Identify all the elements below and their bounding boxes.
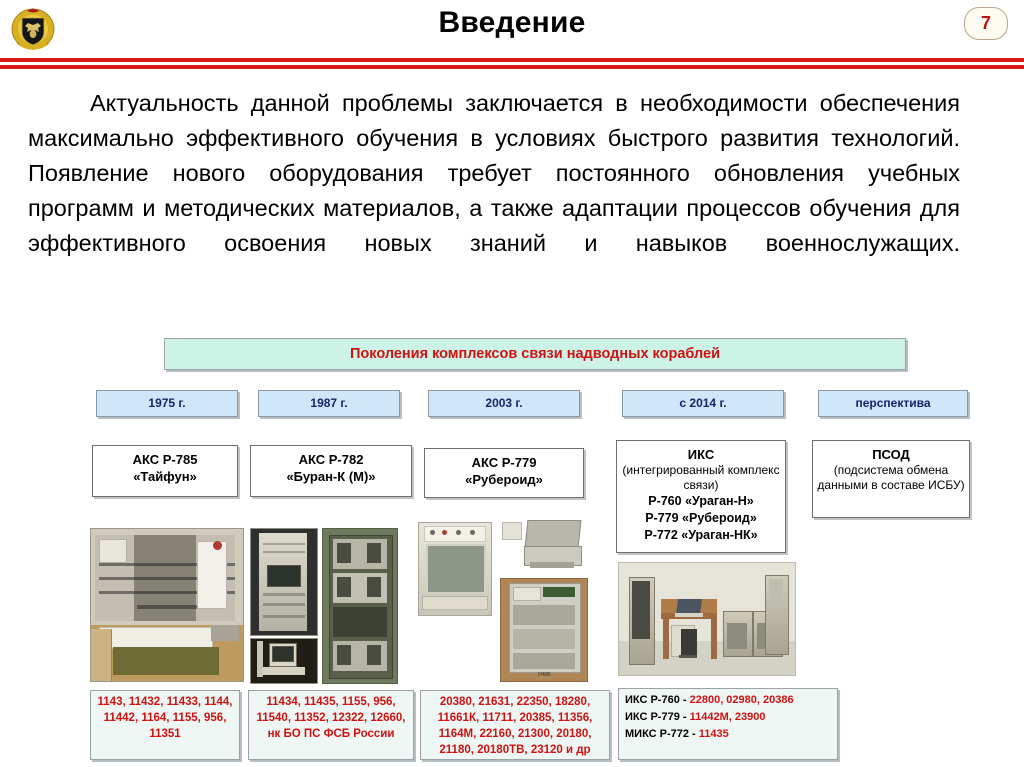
numbers-row-r779-label: ИКС Р-779 - [625,711,690,723]
year-box-2003[interactable]: 2003 г. [428,390,580,417]
year-box-1987[interactable]: 1987 г. [258,390,400,417]
numbers-row-r772: МИКС Р-772 - 11435 [625,726,835,743]
numbers-row-r772-value: 11435 [699,728,729,740]
numbers-row-r772-label: МИКС Р-772 - [625,728,699,740]
photo-r779-rugged-laptop [500,518,586,574]
system-box-iks[interactable]: ИКС (интегрированный комплекс связи) Р-7… [616,440,786,553]
system-box-iks-sub: (интегрированный комплекс связи) [619,463,783,493]
system-box-iks-item-2: Р-779 «Рубероид» [619,510,783,527]
numbers-row-r779-value: 11442М, 23900 [690,711,766,723]
year-box-1975[interactable]: 1975 г. [96,390,238,417]
system-box-r782[interactable]: АКС Р-782 «Буран-К (М)» [250,445,412,497]
system-box-r782-main: АКС Р-782 [253,451,409,468]
generations-diagram: Поколения комплексов связи надводных кор… [0,330,1024,767]
numbers-row-r779: ИКС Р-779 - 11442М, 23900 [625,709,835,726]
numbers-row-r760-label: ИКС Р-760 - [625,694,690,706]
numbers-box-r779[interactable]: 20380, 21631, 22350, 18280, 11661К, 1171… [420,690,610,760]
photo-r779-console [412,518,496,626]
page-title: Введение [0,6,1024,40]
numbers-box-r782[interactable]: 11434, 11435, 1155, 956, 11540, 11352, 1… [248,690,414,760]
system-box-psod-sub: (подсистема обмена данными в составе ИСБ… [815,463,967,493]
system-box-r785-sub: «Тайфун» [95,468,235,485]
diagram-banner-title: Поколения комплексов связи надводных кор… [164,338,906,370]
system-box-r785[interactable]: АКС Р-785 «Тайфун» [92,445,238,497]
numbers-row-r760: ИКС Р-760 - 22800, 02980, 20386 [625,692,835,709]
system-box-r779-sub: «Рубероид» [427,471,581,488]
header-rule-top [0,58,1024,62]
photo-iks-room [618,562,796,676]
year-box-perspective[interactable]: перспектива [818,390,968,417]
header-rule-bottom [0,65,1024,69]
system-box-psod[interactable]: ПСОД (подсистема обмена данными в состав… [812,440,970,518]
system-box-r779[interactable]: АКС Р-779 «Рубероид» [424,448,584,498]
photo-r779-caption: УНКВ [501,672,587,678]
system-box-r785-main: АКС Р-785 [95,451,235,468]
slide-header: Введение 7 [0,0,1024,56]
photo-r782-workstation [250,638,318,684]
numbers-box-iks[interactable]: ИКС Р-760 - 22800, 02980, 20386 ИКС Р-77… [618,688,838,760]
numbers-box-r785[interactable]: 1143, 11432, 11433, 1144, 11442, 1164, 1… [90,690,240,760]
system-box-r779-main: АКС Р-779 [427,454,581,471]
system-box-iks-item-3: Р-772 «Ураган-НК» [619,527,783,544]
photo-r785-console [90,528,244,682]
photo-r779-rack-cabinet: УНКВ [500,578,588,682]
year-box-2014[interactable]: с 2014 г. [622,390,784,417]
system-box-psod-main: ПСОД [815,446,967,463]
photo-r782-cabinet [250,528,318,636]
page-number-badge: 7 [964,7,1008,40]
photo-r782-equipment-rack [322,528,398,684]
system-box-iks-item-1: Р-760 «Ураган-Н» [619,493,783,510]
system-box-iks-main: ИКС [619,446,783,463]
system-box-r782-sub: «Буран-К (М)» [253,468,409,485]
intro-paragraph: Актуальность данной проблемы заключается… [28,86,960,296]
numbers-row-r760-value: 22800, 02980, 20386 [690,694,794,706]
